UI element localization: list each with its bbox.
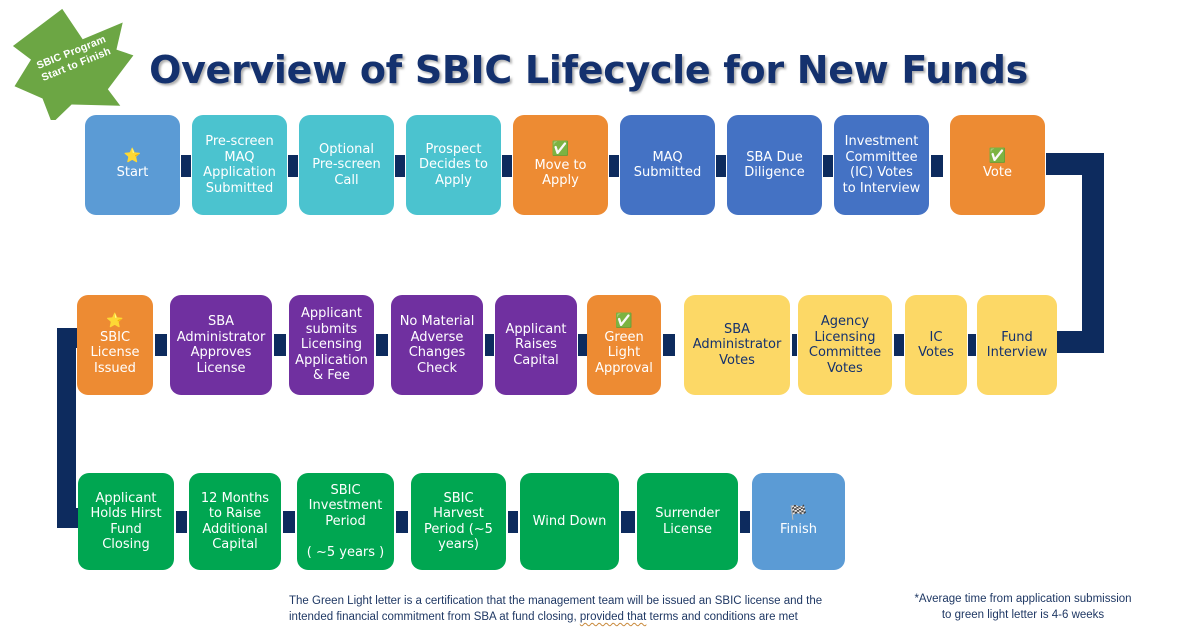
flow-step-wind-down[interactable]: Wind Down	[520, 473, 619, 570]
flow-step-label: 12 Months to Raise Additional Capital	[201, 491, 269, 553]
flow-step-fund-interview[interactable]: Fund Interview	[977, 295, 1057, 395]
flow-step-label: Applicant Holds Hirst Fund Closing	[90, 491, 161, 553]
connector-bar	[502, 155, 512, 177]
flow-step-sbic-harvest-period-5-years[interactable]: SBIC Harvest Period (~5 years)	[411, 473, 506, 570]
flow-step-label: SBIC License Issued	[90, 330, 139, 377]
connector-bar	[823, 155, 833, 177]
flow-step-label: Move to Apply	[534, 158, 586, 189]
flow-step-move-to-apply[interactable]: ✅Move to Apply	[513, 115, 608, 215]
footnote-left-spellchecked: provided that	[580, 611, 647, 623]
connector-bar	[508, 511, 518, 533]
connector-bar	[283, 511, 295, 533]
flow-step-label: SBA Due Diligence	[744, 150, 804, 181]
flow-step-pre-screen-maq-application-submitted[interactable]: Pre-screen MAQ Application Submitted	[192, 115, 287, 215]
flow-step-label: Wind Down	[533, 514, 607, 530]
connector-bar	[663, 334, 675, 356]
footnote-average-time: *Average time from application submissio…	[878, 591, 1168, 623]
flow-step-label: Applicant Raises Capital	[505, 322, 566, 369]
flow-step-12-months-to-raise-additional-capital[interactable]: 12 Months to Raise Additional Capital	[189, 473, 281, 570]
flow-step-label: SBIC Investment Period ( ~5 years )	[307, 483, 384, 561]
flow-step-label: Pre-screen MAQ Application Submitted	[203, 134, 276, 196]
flow-step-maq-submitted[interactable]: MAQ Submitted	[620, 115, 715, 215]
flow-step-label: Agency Licensing Committee Votes	[809, 314, 881, 376]
flow-step-sba-administrator-votes[interactable]: SBA Administrator Votes	[684, 295, 790, 395]
connector-bar	[396, 511, 408, 533]
flow-step-label: Green Light Approval	[595, 330, 653, 377]
connector-bar	[931, 155, 943, 177]
flow-step-ic-votes[interactable]: IC Votes	[905, 295, 967, 395]
flow-step-label: Surrender License	[655, 506, 720, 537]
connector-bar	[155, 334, 167, 356]
flow-step-label: IC Votes	[918, 330, 954, 361]
check-box-icon: ✅	[989, 149, 1006, 164]
page-title: Overview of SBIC Lifecycle for New Funds	[0, 48, 1177, 92]
flow-step-label: Start	[117, 165, 149, 181]
connector-bar	[485, 334, 494, 356]
connector-bar	[578, 334, 587, 356]
flow-step-label: Optional Pre-screen Call	[312, 142, 381, 189]
flow-step-label: No Material Adverse Changes Check	[400, 314, 475, 376]
flow-step-no-material-adverse-changes-check[interactable]: No Material Adverse Changes Check	[391, 295, 483, 395]
flow-step-label: Finish	[780, 522, 817, 538]
flowchart-canvas: SBIC Program Start to Finish Overview of…	[0, 0, 1177, 637]
flow-step-label: Fund Interview	[987, 330, 1047, 361]
star-icon: ⭐	[124, 149, 141, 164]
flow-step-sbic-license-issued[interactable]: ⭐SBIC License Issued	[77, 295, 153, 395]
flow-step-label: Prospect Decides to Apply	[419, 142, 488, 189]
connector-bar	[740, 511, 750, 533]
flow-step-finish[interactable]: 🏁Finish	[752, 473, 845, 570]
connector-bar	[395, 155, 405, 177]
footnote-green-light: The Green Light letter is a certificatio…	[289, 593, 834, 625]
checkered-flag-icon: 🏁	[790, 506, 807, 521]
flow-step-vote[interactable]: ✅Vote	[950, 115, 1045, 215]
flow-step-label: MAQ Submitted	[634, 150, 701, 181]
connector-bar	[376, 334, 388, 356]
connector-bar	[792, 334, 797, 356]
flow-step-surrender-license[interactable]: Surrender License	[637, 473, 738, 570]
check-box-icon: ✅	[552, 142, 569, 157]
connector-bar	[621, 511, 635, 533]
flow-step-green-light-approval[interactable]: ✅Green Light Approval	[587, 295, 661, 395]
connector-bar	[968, 334, 976, 356]
footnote-left-part2: terms and conditions are met	[646, 611, 798, 623]
flow-step-applicant-holds-hirst-fund-closing[interactable]: Applicant Holds Hirst Fund Closing	[78, 473, 174, 570]
star-icon: ⭐	[106, 314, 123, 329]
flow-step-label: Investment Committee (IC) Votes to Inter…	[843, 134, 921, 196]
flow-step-label: SBA Administrator Votes	[693, 322, 782, 369]
flow-step-sbic-investment-period-5-years[interactable]: SBIC Investment Period ( ~5 years )	[297, 473, 394, 570]
flow-step-sba-administrator-approves-license[interactable]: SBA Administrator Approves License	[170, 295, 272, 395]
check-box-icon: ✅	[615, 314, 632, 329]
flow-step-label: Vote	[983, 165, 1012, 181]
flow-step-start[interactable]: ⭐Start	[85, 115, 180, 215]
connector-bar	[176, 511, 187, 533]
flow-step-applicant-submits-licensing-application-fee[interactable]: Applicant submits Licensing Application …	[289, 295, 374, 395]
flow-step-investment-committee-ic-votes-to-interview[interactable]: Investment Committee (IC) Votes to Inter…	[834, 115, 929, 215]
flow-step-label: Applicant submits Licensing Application …	[295, 306, 368, 384]
flow-step-optional-pre-screen-call[interactable]: Optional Pre-screen Call	[299, 115, 394, 215]
connector-bar	[609, 155, 619, 177]
connector-bar	[288, 155, 298, 177]
flow-step-applicant-raises-capital[interactable]: Applicant Raises Capital	[495, 295, 577, 395]
flow-step-prospect-decides-to-apply[interactable]: Prospect Decides to Apply	[406, 115, 501, 215]
flow-step-label: SBA Administrator Approves License	[177, 314, 266, 376]
connector-bar	[894, 334, 904, 356]
flow-step-sba-due-diligence[interactable]: SBA Due Diligence	[727, 115, 822, 215]
connector-bar	[716, 155, 726, 177]
flow-step-label: SBIC Harvest Period (~5 years)	[424, 491, 493, 553]
flow-step-agency-licensing-committee-votes[interactable]: Agency Licensing Committee Votes	[798, 295, 892, 395]
connector-bar	[181, 155, 191, 177]
connector-bar	[274, 334, 286, 356]
